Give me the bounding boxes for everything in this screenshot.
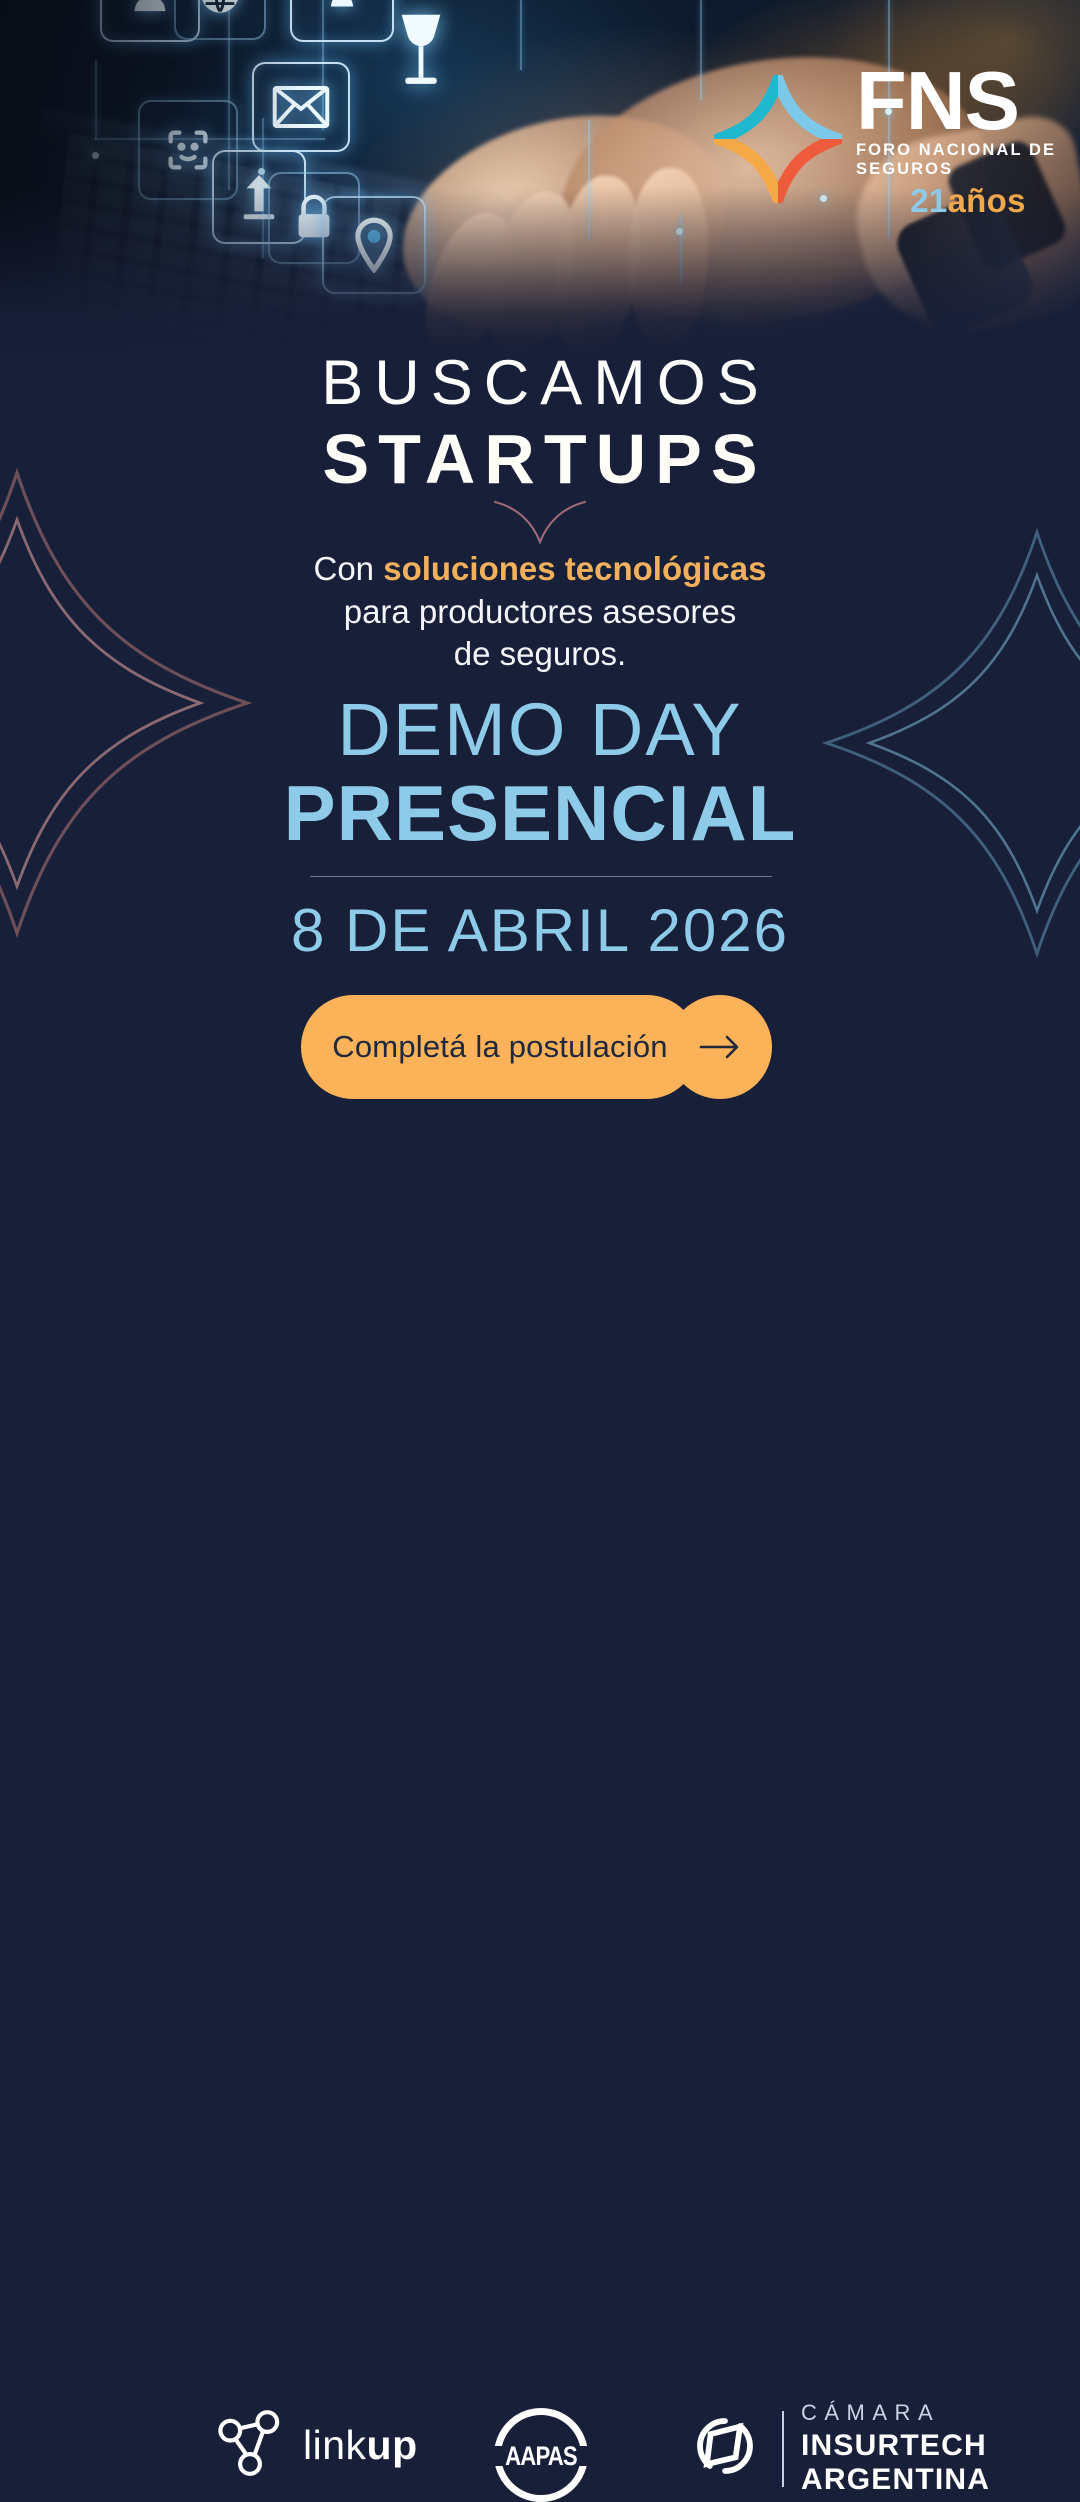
headline-line-1: BUSCAMOS xyxy=(0,352,1080,415)
logo-divider xyxy=(782,2411,784,2487)
subheadline: Con soluciones tecnológicas para product… xyxy=(0,548,1080,676)
partner-logos: linkup AAPAS CÁMARA INSURTECH ARGENTINA xyxy=(0,1196,1080,1306)
subheadline-highlight: soluciones tecnológicas xyxy=(383,550,766,587)
headline: BUSCAMOS STARTUPS xyxy=(0,352,1080,497)
subheadline-line-1: Con soluciones tecnológicas xyxy=(0,548,1080,591)
cia-line-2: INSURTECH xyxy=(801,2431,990,2461)
chevron-flourish-icon xyxy=(493,498,587,546)
cia-line-3: ARGENTINA xyxy=(801,2465,990,2495)
partner-logo-linkup: linkup xyxy=(213,2406,418,2485)
event-title: DEMO DAY PRESENCIAL xyxy=(0,693,1080,855)
title-date-divider xyxy=(310,876,772,877)
aapas-wordmark: AAPAS xyxy=(502,2441,579,2472)
linkup-wordmark: linkup xyxy=(303,2422,418,2469)
network-nodes-icon xyxy=(213,2406,287,2485)
swirl-atom-icon xyxy=(685,2406,765,2491)
event-title-bold: PRESENCIAL xyxy=(0,773,1080,855)
camara-insurtech-wordmark: CÁMARA INSURTECH ARGENTINA xyxy=(801,2402,990,2495)
arrow-right-icon[interactable] xyxy=(668,995,772,1099)
poster-content: BUSCAMOS STARTUPS Con soluciones tecnoló… xyxy=(0,0,1080,1350)
headline-line-2: STARTUPS xyxy=(0,423,1080,497)
subheadline-line-3: de seguros. xyxy=(0,633,1080,676)
subheadline-prefix: Con xyxy=(314,550,384,587)
subheadline-line-2: para productores asesores xyxy=(0,591,1080,634)
event-title-light: DEMO DAY xyxy=(0,693,1080,767)
partner-logo-camara-insurtech: CÁMARA INSURTECH ARGENTINA xyxy=(685,2402,990,2495)
partner-logo-aapas: AAPAS xyxy=(494,2408,588,2502)
linkup-name-bold: up xyxy=(367,2422,418,2468)
linkup-name-light: link xyxy=(303,2422,367,2468)
cta-label: Completá la postulación xyxy=(301,995,699,1099)
event-date: 8 DE ABRIL 2026 xyxy=(0,896,1080,965)
cia-line-1: CÁMARA xyxy=(801,2402,990,2424)
